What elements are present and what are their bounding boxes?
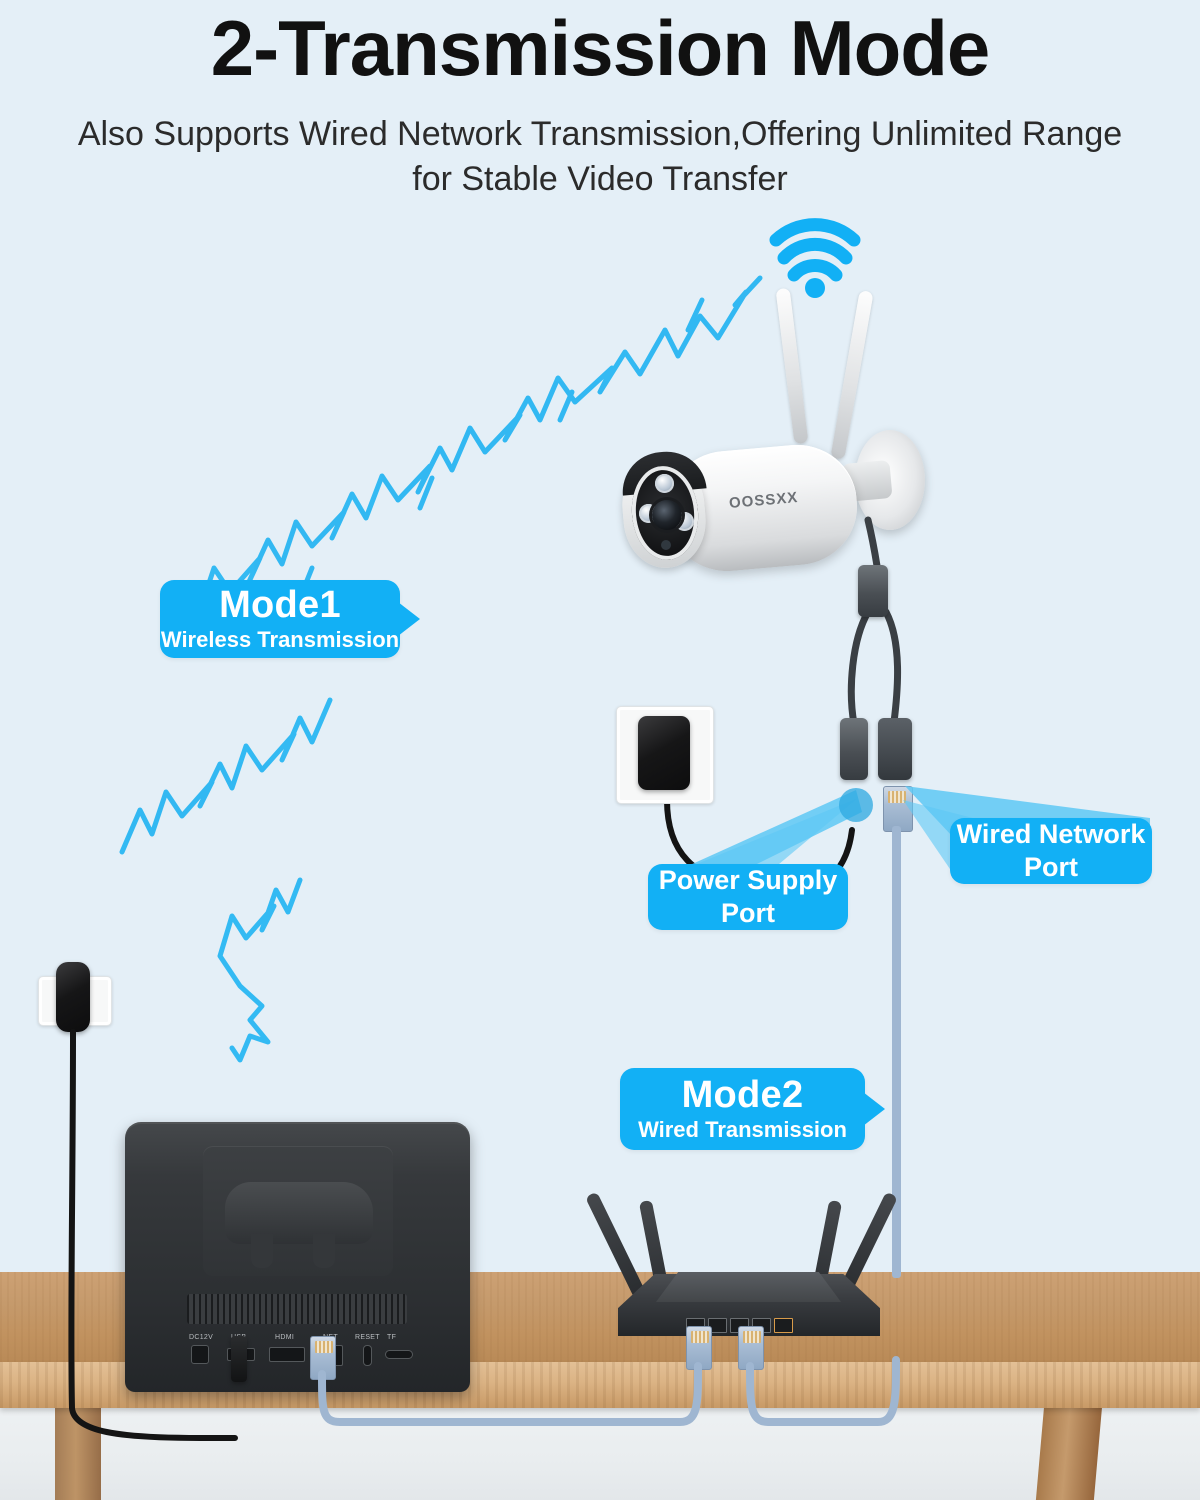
floor bbox=[0, 1400, 1200, 1500]
callout-wired-network-port[interactable]: Wired Network Port bbox=[950, 818, 1152, 884]
router-rj45-plug-right bbox=[738, 1326, 764, 1370]
camera-network-port-connector bbox=[878, 718, 912, 780]
nvr-port-label-dc12v: DC12V bbox=[189, 1334, 213, 1341]
callout-power-supply-port-label: Power Supply Port bbox=[648, 864, 848, 930]
wifi-router bbox=[598, 1258, 898, 1336]
callout-power-supply-port[interactable]: Power Supply Port bbox=[648, 864, 848, 930]
camera-power-branch bbox=[851, 612, 868, 724]
nvr-port-hdmi bbox=[269, 1347, 305, 1362]
camera-light-sensor bbox=[661, 540, 671, 550]
table-leg-left bbox=[55, 1406, 101, 1500]
nvr-dc-plug bbox=[231, 1336, 247, 1382]
power-port-highlight bbox=[839, 788, 873, 822]
router-wan-port bbox=[774, 1318, 793, 1333]
callout-mode1[interactable]: Mode1 Wireless Transmission bbox=[160, 580, 400, 658]
camera-ethernet-cable bbox=[892, 826, 901, 1278]
nvr-monitor: DC12V USB HDMI NET RESET TF bbox=[125, 1122, 470, 1392]
nvr-stand-foot-left bbox=[251, 1234, 273, 1268]
callout-mode1-subtitle: Wireless Transmission bbox=[161, 627, 399, 652]
nvr-port-reset bbox=[363, 1345, 372, 1366]
camera-lens bbox=[652, 500, 682, 530]
callout-mode2[interactable]: Mode2 Wired Transmission bbox=[620, 1068, 865, 1150]
nvr-rj45-plug bbox=[310, 1336, 336, 1380]
wifi-icon bbox=[776, 225, 854, 275]
callout-mode2-subtitle: Wired Transmission bbox=[638, 1117, 847, 1142]
camera-ir-led-top bbox=[655, 474, 674, 493]
nvr-port-label-hdmi: HDMI bbox=[275, 1334, 294, 1341]
nvr-power-adapter bbox=[56, 962, 90, 1032]
callout-wired-network-port-label: Wired Network Port bbox=[950, 818, 1152, 884]
router-rj45-plug-left bbox=[686, 1326, 712, 1370]
wifi-dot bbox=[805, 278, 825, 298]
page-subtitle: Also Supports Wired Network Transmission… bbox=[60, 112, 1140, 202]
nvr-port-label-reset: RESET bbox=[355, 1334, 380, 1341]
nvr-port-dc12v bbox=[191, 1345, 209, 1364]
camera-network-branch bbox=[886, 612, 898, 722]
camera-cable-splitter bbox=[858, 565, 888, 617]
nvr-port-tf bbox=[385, 1350, 413, 1359]
nvr-stand-foot-right bbox=[313, 1234, 335, 1268]
camera-dc-power-connector bbox=[840, 718, 868, 780]
nvr-port-label-tf: TF bbox=[387, 1334, 396, 1341]
camera-antenna-left bbox=[776, 288, 809, 445]
wireless-signal-wave-lower-icon bbox=[122, 700, 330, 1060]
callout-mode2-title: Mode2 bbox=[682, 1076, 804, 1115]
router-top-panel bbox=[656, 1272, 841, 1302]
nvr-port-strip: DC12V USB HDMI NET RESET TF bbox=[187, 1334, 415, 1378]
nvr-vent-grille bbox=[187, 1294, 407, 1324]
callout-mode1-title: Mode1 bbox=[219, 586, 341, 625]
camera-antenna-right bbox=[830, 290, 873, 460]
nvr-stand-bracket bbox=[225, 1182, 373, 1244]
page-title: 2-Transmission Mode bbox=[0, 8, 1200, 90]
table-leg-right bbox=[1036, 1406, 1102, 1500]
infographic-stage: 2-Transmission Mode Also Supports Wired … bbox=[0, 0, 1200, 1500]
camera-power-adapter bbox=[638, 716, 690, 790]
